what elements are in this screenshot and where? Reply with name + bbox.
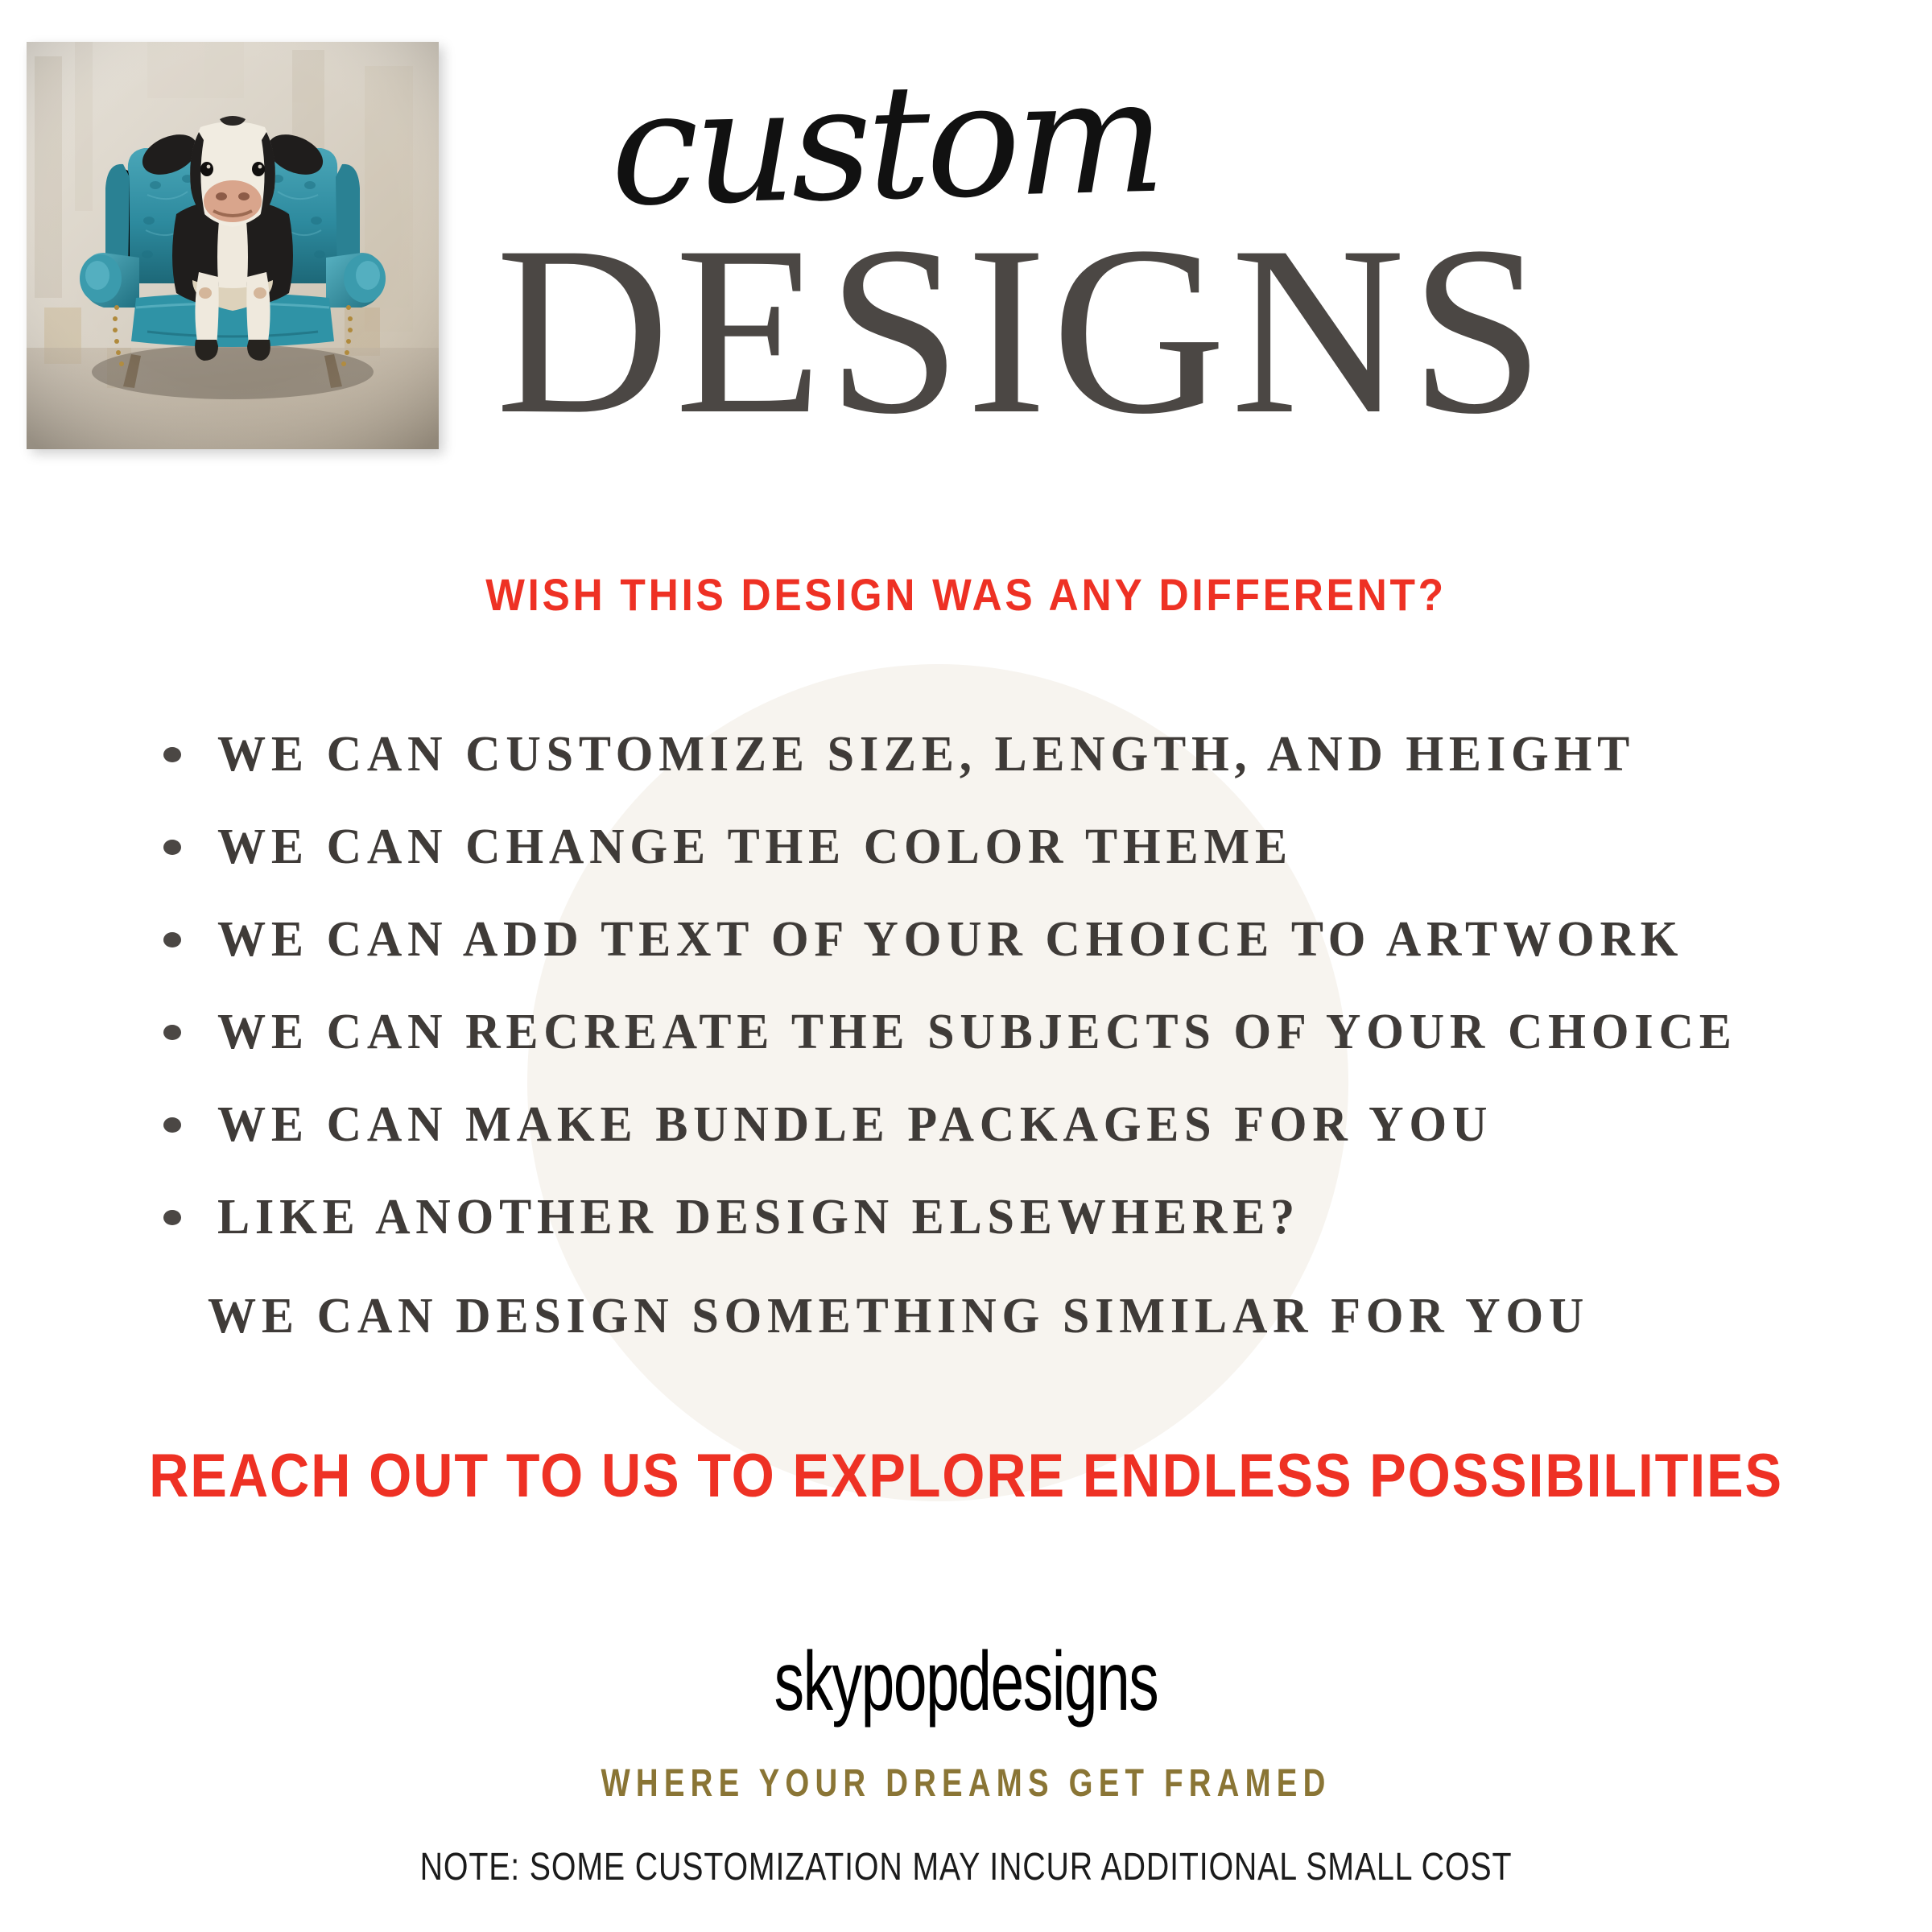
page-title: DESIGNS — [338, 209, 1707, 451]
product-thumbnail-image[interactable] — [27, 42, 439, 449]
footer-note: NOTE: SOME CUSTOMIZATION MAY INCUR ADDIT… — [174, 1845, 1758, 1889]
feature-continuation-text: WE CAN DESIGN SOMETHING SIMILAR FOR YOU — [208, 1288, 1589, 1345]
header-block: custom DESIGNS — [451, 48, 1819, 547]
brand-logo-text: skypopdesigns — [270, 1634, 1662, 1730]
feature-list: WE CAN CUSTOMIZE SIZE, LENGTH, AND HEIGH… — [157, 708, 1847, 1264]
feature-label: WE CAN RECREATE THE SUBJECTS OF YOUR CHO… — [217, 1004, 1737, 1061]
list-item: WE CAN MAKE BUNDLE PACKAGES FOR YOU — [157, 1079, 1847, 1171]
list-item: WE CAN CHANGE THE COLOR THEME — [157, 801, 1847, 894]
feature-label: WE CAN CUSTOMIZE SIZE, LENGTH, AND HEIGH… — [217, 726, 1635, 783]
feature-label: LIKE ANOTHER DESIGN ELSEWHERE? — [217, 1189, 1300, 1246]
cow-in-teal-armchair-painting — [27, 42, 439, 449]
tagline-question: WISH THIS DESIGN WAS ANY DIFFERENT? — [77, 568, 1855, 621]
feature-label: WE CAN CHANGE THE COLOR THEME — [217, 819, 1293, 876]
list-item: WE CAN CUSTOMIZE SIZE, LENGTH, AND HEIGH… — [157, 708, 1847, 801]
brand-tagline: WHERE YOUR DREAMS GET FRAMED — [193, 1761, 1739, 1806]
feature-label: WE CAN MAKE BUNDLE PACKAGES FOR YOU — [217, 1096, 1492, 1154]
list-item: WE CAN RECREATE THE SUBJECTS OF YOUR CHO… — [157, 986, 1847, 1079]
list-item: WE CAN ADD TEXT OF YOUR CHOICE TO ARTWOR… — [157, 894, 1847, 986]
call-to-action-text: REACH OUT TO US TO EXPLORE ENDLESS POSSI… — [97, 1441, 1835, 1511]
list-item: LIKE ANOTHER DESIGN ELSEWHERE? — [157, 1171, 1847, 1264]
feature-label: WE CAN ADD TEXT OF YOUR CHOICE TO ARTWOR… — [217, 911, 1683, 968]
